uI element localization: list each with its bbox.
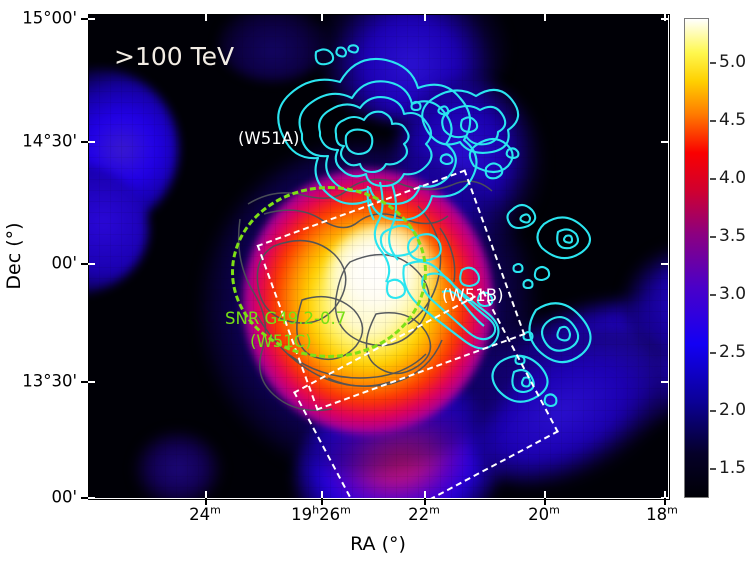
y-tick-label: 15°00'	[22, 9, 77, 28]
sky-map-panel: >100 TeV (W51A) (W51B) SNR G49.2-0.7 (W5…	[88, 14, 668, 498]
x-axis-title: RA (°)	[350, 533, 406, 555]
y-tick-mark	[81, 18, 88, 20]
x-tick-label-20m: 20m	[528, 505, 560, 524]
x-tick-hours: 19	[291, 505, 312, 524]
x-tick-label-24m: 24m	[189, 505, 221, 524]
colorbar-tick-mark	[710, 178, 716, 180]
x-tick-mark	[321, 498, 323, 505]
x-tick-inner-top	[424, 14, 426, 21]
y-tick-mark	[81, 497, 88, 499]
y-tick-mark	[81, 263, 88, 265]
y-tick-mark	[81, 141, 88, 143]
y-tick-label: 00'	[51, 488, 77, 507]
x-tick-minute-unit: m	[210, 504, 221, 517]
x-tick-minutes: 18	[646, 505, 667, 524]
x-tick-mark	[664, 498, 666, 505]
colorbar-tick-label: 5.0	[719, 52, 745, 72]
x-tick-minute-unit: m	[549, 504, 560, 517]
x-tick-inner-top	[321, 14, 323, 21]
colorbar-gradient	[685, 19, 708, 497]
y-axis-title: Dec (°)	[3, 222, 25, 289]
colorbar-tick-mark	[710, 236, 716, 238]
y-tick-inner	[88, 18, 95, 20]
colorbar-tick-label: 3.0	[719, 284, 745, 304]
x-tick-label-18m: 18m	[646, 505, 678, 524]
colorbar-tick-mark	[710, 468, 716, 470]
colorbar-tick-mark	[710, 352, 716, 354]
y-tick-inner	[88, 263, 95, 265]
colorbar-tick-label: 3.5	[719, 226, 745, 246]
colorbar-tick-mark	[710, 62, 716, 64]
y-tick-inner-right	[661, 141, 668, 143]
y-tick-inner	[88, 141, 95, 143]
snr-extent-ellipse	[231, 186, 427, 358]
figure-root: >100 TeV (W51A) (W51B) SNR G49.2-0.7 (W5…	[0, 0, 745, 564]
x-tick-minutes: 24	[189, 505, 210, 524]
y-tick-inner	[88, 497, 95, 499]
colorbar	[684, 18, 709, 498]
x-tick-minutes: 22	[408, 505, 429, 524]
energy-band-label: >100 TeV	[114, 42, 234, 71]
x-tick-minutes: 26	[319, 505, 340, 524]
x-tick-inner-top	[544, 14, 546, 21]
x-tick-mark	[544, 498, 546, 505]
x-tick-minutes: 20	[528, 505, 549, 524]
y-tick-label: 14°30'	[22, 132, 77, 151]
x-tick-inner	[544, 491, 546, 498]
x-tick-inner	[321, 491, 323, 498]
colorbar-tick-label: 2.0	[719, 400, 745, 420]
x-tick-minute-unit: m	[667, 504, 678, 517]
y-tick-inner	[88, 381, 95, 383]
x-tick-mark	[205, 498, 207, 505]
y-tick-mark	[81, 381, 88, 383]
x-tick-minute-unit: m	[340, 504, 351, 517]
colorbar-tick-label: 4.0	[719, 168, 745, 188]
x-tick-label-1926: 19h26m	[291, 505, 351, 524]
colorbar-tick-mark	[710, 410, 716, 412]
y-tick-inner-right	[661, 381, 668, 383]
y-tick-label: 00'	[51, 254, 77, 273]
x-tick-inner	[664, 491, 666, 498]
y-tick-inner-right	[661, 263, 668, 265]
x-tick-label-22m: 22m	[408, 505, 440, 524]
x-tick-inner-top	[664, 14, 666, 21]
colorbar-tick-mark	[710, 120, 716, 122]
x-tick-hour-unit: h	[312, 504, 319, 517]
colorbar-tick-label: 4.5	[719, 110, 745, 130]
x-tick-inner	[424, 491, 426, 498]
colorbar-tick-label: 2.5	[719, 342, 745, 362]
x-tick-inner-top	[205, 14, 207, 21]
x-tick-mark	[424, 498, 426, 505]
colorbar-tick-label: 1.5	[719, 458, 745, 478]
x-tick-minute-unit: m	[429, 504, 440, 517]
colorbar-tick-mark	[710, 294, 716, 296]
x-tick-inner	[205, 491, 207, 498]
y-tick-label: 13°30'	[22, 372, 77, 391]
